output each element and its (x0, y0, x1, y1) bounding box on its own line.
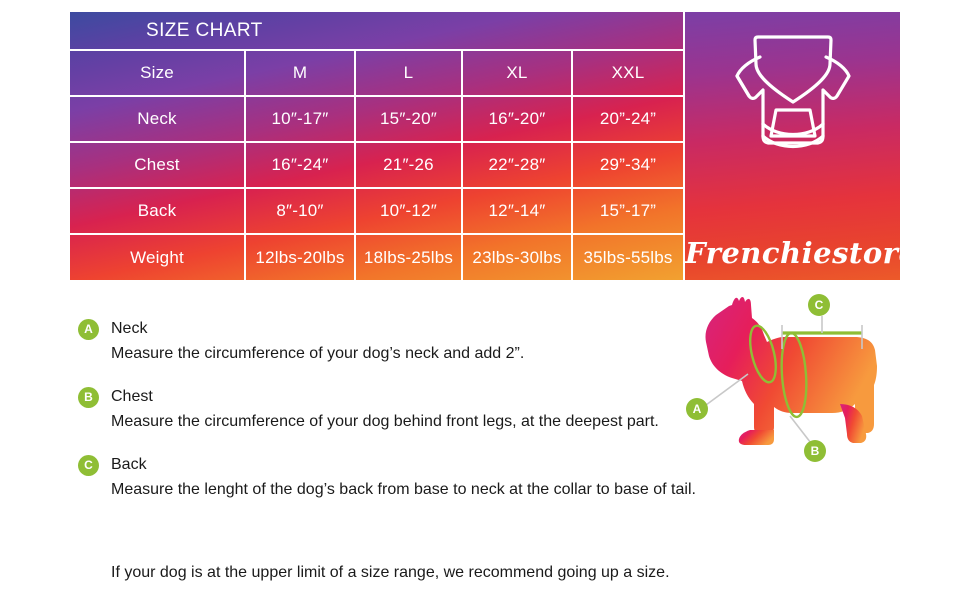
marker-badge-c: C (78, 455, 99, 476)
cell-weight-l: 18lbs-25lbs (355, 234, 462, 280)
marker-badge-a: A (78, 319, 99, 340)
cell-chest-xl: 22″-28″ (462, 142, 572, 188)
column-header-size: Size (70, 50, 245, 96)
table-row: Chest 16″-24″ 21″-26 22″-28″ 29”-34” (70, 142, 683, 188)
size-chart-table-block: SIZE CHART Size M L XL XXL Neck 10″-17″ … (70, 12, 683, 280)
cell-back-l: 10″-12″ (355, 188, 462, 234)
column-header-m: M (245, 50, 355, 96)
column-header-xl: XL (462, 50, 572, 96)
cell-back-m: 8″-10″ (245, 188, 355, 234)
measurement-instructions: A Neck Measure the circumference of your… (78, 318, 678, 522)
instruction-item-neck: A Neck Measure the circumference of your… (78, 318, 678, 365)
cell-chest-l: 21″-26 (355, 142, 462, 188)
sizing-recommendation-note: If your dog is at the upper limit of a s… (111, 561, 670, 584)
marker-badge-b: B (78, 387, 99, 408)
column-header-xxl: XXL (572, 50, 683, 96)
cell-neck-xxl: 20”-24” (572, 96, 683, 142)
cell-neck-m: 10″-17″ (245, 96, 355, 142)
table-row: Weight 12lbs-20lbs 18lbs-25lbs 23lbs-30l… (70, 234, 683, 280)
page-title: SIZE CHART (70, 12, 683, 50)
instruction-desc-chest: Measure the circumference of your dog be… (111, 410, 678, 433)
brand-logo-text: Frenchiestore (685, 236, 900, 270)
cell-weight-xl: 23lbs-30lbs (462, 234, 572, 280)
brand-panel: Frenchiestore (685, 12, 900, 280)
instruction-item-back: C Back Measure the lenght of the dog’s b… (78, 454, 678, 501)
cell-chest-xxl: 29”-34” (572, 142, 683, 188)
column-header-l: L (355, 50, 462, 96)
leader-line-a (706, 374, 748, 405)
instruction-title-neck: Neck (111, 318, 678, 340)
table-title-row: SIZE CHART (70, 12, 683, 50)
cell-weight-m: 12lbs-20lbs (245, 234, 355, 280)
instruction-item-chest: B Chest Measure the circumference of you… (78, 386, 678, 433)
table-row: Neck 10″-17″ 15″-20″ 16″-20″ 20”-24” (70, 96, 683, 142)
dog-measurement-diagram: A B C (672, 292, 968, 472)
diagram-marker-a: A (686, 398, 708, 420)
cell-back-xl: 12″-14″ (462, 188, 572, 234)
size-chart-page: SIZE CHART Size M L XL XXL Neck 10″-17″ … (0, 0, 970, 600)
dog-hoodie-icon (718, 24, 868, 194)
cell-weight-xxl: 35lbs-55lbs (572, 234, 683, 280)
instruction-desc-back: Measure the lenght of the dog’s back fro… (111, 478, 678, 501)
instruction-title-back: Back (111, 454, 678, 476)
cell-neck-xl: 16″-20″ (462, 96, 572, 142)
diagram-marker-c: C (808, 294, 830, 316)
size-chart-table: SIZE CHART Size M L XL XXL Neck 10″-17″ … (70, 12, 683, 280)
row-label-neck: Neck (70, 96, 245, 142)
instruction-title-chest: Chest (111, 386, 678, 408)
diagram-marker-b: B (804, 440, 826, 462)
cell-chest-m: 16″-24″ (245, 142, 355, 188)
cell-neck-l: 15″-20″ (355, 96, 462, 142)
instruction-desc-neck: Measure the circumference of your dog’s … (111, 342, 678, 365)
cell-back-xxl: 15”-17” (572, 188, 683, 234)
table-row: Back 8″-10″ 10″-12″ 12″-14″ 15”-17” (70, 188, 683, 234)
table-header-row: Size M L XL XXL (70, 50, 683, 96)
row-label-chest: Chest (70, 142, 245, 188)
row-label-back: Back (70, 188, 245, 234)
row-label-weight: Weight (70, 234, 245, 280)
